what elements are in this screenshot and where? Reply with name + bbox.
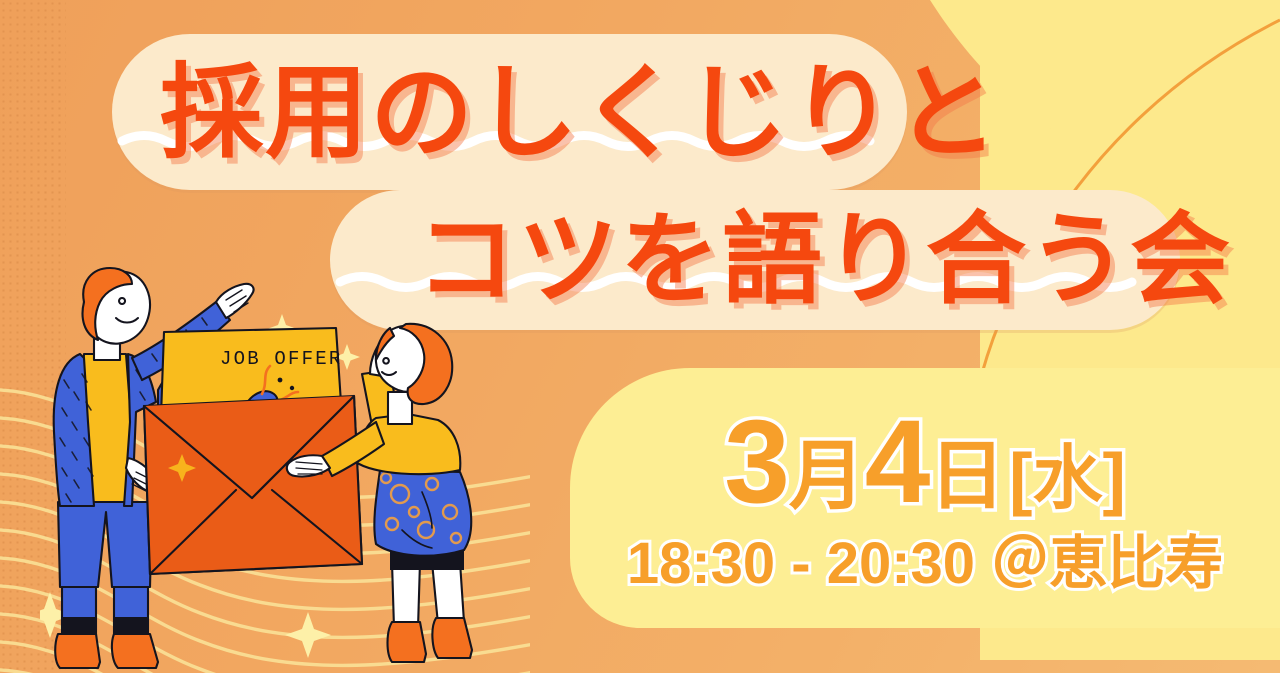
time-and-location: 18:30 - 20:30 ＠恵比寿: [627, 535, 1223, 593]
event-banner: 採用のしくじりと コツを語り合う会 3 月 4 日 [水] 18:30 - 20…: [0, 0, 1280, 673]
title-pill-line-1: 採用のしくじりと: [112, 34, 907, 190]
date-time-panel: 3 月 4 日 [水] 18:30 - 20:30 ＠恵比寿: [570, 368, 1280, 628]
title-line-2: コツを語り合う会: [416, 210, 1232, 310]
month-label: 月: [789, 439, 865, 515]
job-offer-illustration: .ol { stroke:#14141e; stroke-width:2.1; …: [40, 262, 480, 673]
date-row: 3 月 4 日 [水]: [724, 403, 1126, 521]
day-label: 日: [929, 439, 1005, 515]
job-offer-card-text: JOB OFFER: [220, 348, 342, 370]
title-pill-line-2: コツを語り合う会: [330, 190, 1180, 330]
weekday-label: [水]: [1009, 443, 1126, 513]
title-line-1: 採用のしくじりと: [160, 61, 1000, 164]
month-number: 3: [724, 403, 788, 521]
day-number: 4: [865, 403, 929, 521]
